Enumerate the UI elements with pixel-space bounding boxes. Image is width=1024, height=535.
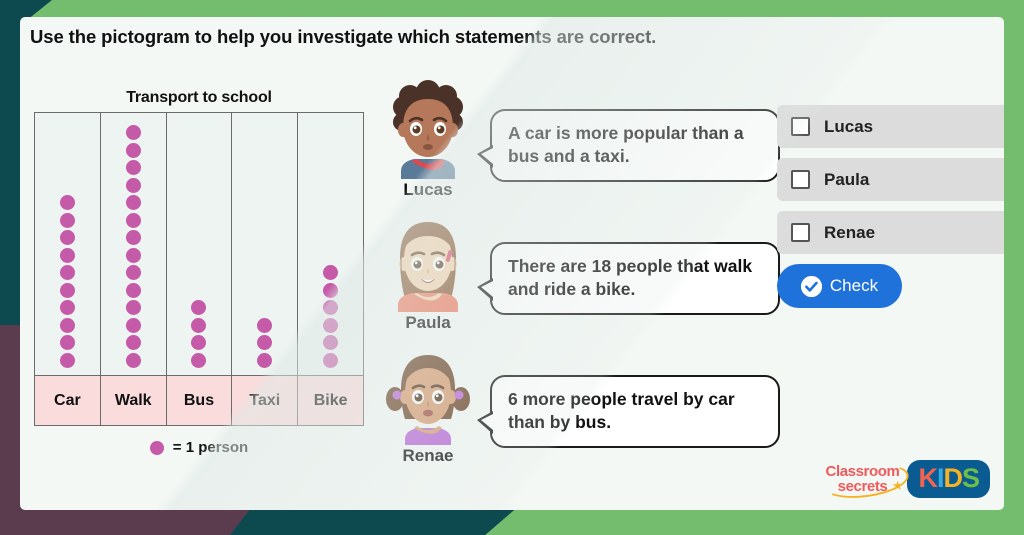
renae-avatar-icon: [383, 345, 473, 445]
checkbox-icon[interactable]: [791, 223, 810, 242]
lucas-avatar-icon: [383, 79, 473, 179]
pictogram-dot: [257, 353, 272, 368]
pictogram-dot: [126, 125, 141, 140]
pictogram-dot: [191, 318, 206, 333]
checkbox-icon[interactable]: [791, 170, 810, 189]
pictogram-dot: [60, 230, 75, 245]
pictogram-dot: [60, 300, 75, 315]
pictogram-column-bus: [167, 113, 233, 375]
character-lucas: Lucas: [376, 79, 480, 200]
pictogram-dot: [60, 248, 75, 263]
key-label: = 1 person: [173, 439, 248, 456]
pictogram-dot: [60, 318, 75, 333]
pictogram-dot: [191, 353, 206, 368]
pictogram-dot: [60, 283, 75, 298]
pictogram-dot: [60, 195, 75, 210]
statement-row-renae: Renae 6 more people travel by car than b…: [376, 345, 780, 466]
pictogram-dot: [323, 265, 338, 280]
pictogram-label-row: CarWalkBusTaxiBike: [35, 375, 363, 425]
pictogram-dot: [323, 335, 338, 350]
answer-option-renae[interactable]: Renae: [777, 211, 1004, 254]
pictogram-column-bike: [298, 113, 363, 375]
pictogram-dot: [191, 300, 206, 315]
pictogram-dot: [323, 283, 338, 298]
speech-bubble-renae: 6 more people travel by car than by bus.: [490, 375, 780, 448]
check-button-label: Check: [830, 276, 878, 296]
paula-avatar-icon: [383, 212, 473, 312]
pictogram-dot: [60, 353, 75, 368]
pictogram-column-car: [35, 113, 101, 375]
pictogram-dot: [191, 335, 206, 350]
check-button[interactable]: Check: [777, 264, 902, 308]
pictogram-dot: [60, 265, 75, 280]
bubble-tail: [477, 145, 493, 168]
pictogram-column-walk: [101, 113, 167, 375]
pictogram-category-label: Walk: [101, 376, 167, 425]
pictogram-columns: [35, 113, 363, 375]
pictogram-dot: [126, 143, 141, 158]
statement-row-paula: Paula There are 18 people that walk and …: [376, 212, 780, 333]
answer-option-label: Paula: [824, 170, 869, 190]
kids-letter-d: D: [943, 465, 962, 492]
pictogram-dot: [126, 335, 141, 350]
bubble-tail: [477, 278, 493, 301]
answer-option-paula[interactable]: Paula: [777, 158, 1004, 201]
character-name: Renae: [402, 446, 453, 466]
pictogram-dot: [126, 195, 141, 210]
statement-text: There are 18 people that walk and ride a…: [508, 256, 752, 299]
pictogram-dot: [126, 248, 141, 263]
character-paula: Paula: [376, 212, 480, 333]
character-renae: Renae: [376, 345, 480, 466]
statement-text: A car is more popular than a bus and a t…: [508, 123, 744, 166]
pictogram-dot: [126, 318, 141, 333]
bubble-tail: [477, 411, 493, 434]
classroom-secrets-logo: Classroom secrets ★: [826, 464, 900, 495]
pictogram-dot: [126, 178, 141, 193]
pictogram-category-label: Bus: [167, 376, 233, 425]
answer-options-panel: LucasPaulaRenae Check: [777, 105, 1004, 308]
statement-row-lucas: Lucas A car is more popular than a bus a…: [376, 79, 780, 200]
answer-list: LucasPaulaRenae: [777, 105, 1004, 254]
pictogram-dot: [60, 335, 75, 350]
kids-logo: K I D S: [907, 460, 990, 498]
speech-bubble-lucas: A car is more popular than a bus and a t…: [490, 109, 780, 182]
activity-card: Use the pictogram to help you investigat…: [20, 17, 1004, 510]
pictogram-column-taxi: [232, 113, 298, 375]
pictogram: Transport to school CarWalkBusTaxiBike =…: [24, 89, 374, 456]
check-circle-icon: [801, 276, 822, 297]
page-title: Use the pictogram to help you investigat…: [30, 26, 994, 48]
kids-letter-k: K: [918, 465, 937, 492]
checkbox-icon[interactable]: [791, 117, 810, 136]
character-name: Lucas: [403, 180, 452, 200]
pictogram-dot: [257, 335, 272, 350]
answer-option-label: Lucas: [824, 117, 873, 137]
pictogram-category-label: Car: [35, 376, 101, 425]
pictogram-dot: [60, 213, 75, 228]
logo-star-icon: ★: [892, 478, 904, 494]
statement-text: 6 more people travel by car than by bus.: [508, 389, 735, 432]
answer-option-lucas[interactable]: Lucas: [777, 105, 1004, 148]
answer-option-label: Renae: [824, 223, 875, 243]
pictogram-key: = 1 person: [24, 439, 374, 456]
pictogram-dot: [126, 230, 141, 245]
pictogram-category-label: Bike: [298, 376, 363, 425]
pictogram-dot: [323, 300, 338, 315]
character-name: Paula: [405, 313, 450, 333]
pictogram-dot: [126, 300, 141, 315]
kids-letter-s: S: [962, 465, 979, 492]
pictogram-dot: [126, 353, 141, 368]
pictogram-dot: [126, 283, 141, 298]
pictogram-dot: [126, 160, 141, 175]
pictogram-dot: [257, 318, 272, 333]
brand-logo: Classroom secrets ★ K I D S: [826, 460, 990, 498]
key-dot-icon: [150, 441, 164, 455]
pictogram-category-label: Taxi: [232, 376, 298, 425]
speech-bubble-paula: There are 18 people that walk and ride a…: [490, 242, 780, 315]
pictogram-table: CarWalkBusTaxiBike: [34, 112, 364, 426]
pictogram-dot: [323, 353, 338, 368]
pictogram-title: Transport to school: [24, 89, 374, 107]
pictogram-dot: [126, 213, 141, 228]
pictogram-dot: [126, 265, 141, 280]
pictogram-dot: [323, 318, 338, 333]
